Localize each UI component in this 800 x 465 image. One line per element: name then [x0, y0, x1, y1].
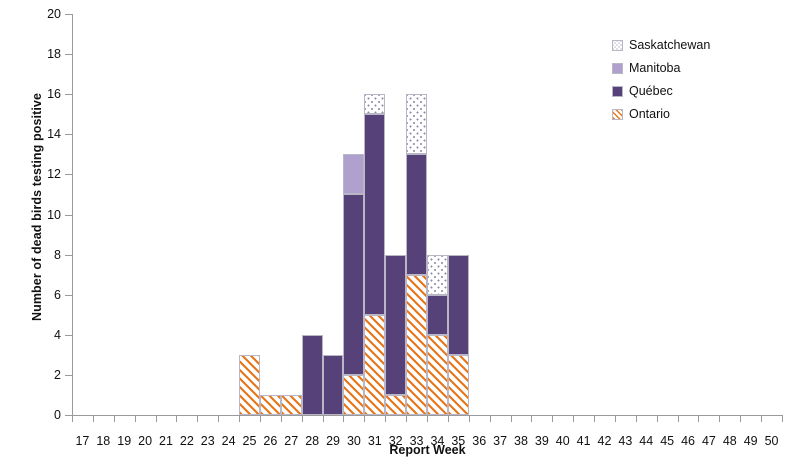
legend-item[interactable]: Ontario [612, 103, 798, 126]
bar-segment-ontario[interactable] [385, 395, 406, 415]
x-tick [469, 415, 470, 422]
y-tick-label: 0 [54, 409, 61, 422]
bar-chart: Number of dead birds testing positive 02… [0, 0, 800, 465]
bar-segment-qubec[interactable] [427, 295, 448, 335]
bar-stack[interactable] [281, 395, 302, 415]
bar-segment-qubec[interactable] [364, 114, 385, 315]
legend-label: Saskatchewan [629, 39, 710, 52]
legend-item[interactable]: Québec [612, 80, 798, 103]
legend-swatch-icon [612, 86, 623, 97]
bar-stack[interactable] [364, 94, 385, 415]
y-tick-label: 6 [54, 288, 61, 301]
x-tick [281, 415, 282, 422]
x-tick [364, 415, 365, 422]
bar-segment-ontario[interactable] [343, 375, 364, 415]
x-axis-title: Report Week [72, 443, 783, 457]
bar-segment-qubec[interactable] [302, 335, 323, 415]
bar-stack[interactable] [302, 335, 323, 415]
bar-segment-saskatchewan[interactable] [427, 255, 448, 295]
bar-stack[interactable] [448, 255, 469, 415]
x-tick [239, 415, 240, 422]
bar-segment-manitoba[interactable] [343, 154, 364, 194]
bar-segment-saskatchewan[interactable] [364, 94, 385, 114]
x-tick [761, 415, 762, 422]
legend-swatch-icon [612, 40, 623, 51]
x-tick [552, 415, 553, 422]
bar-stack[interactable] [385, 255, 406, 415]
y-tick [65, 174, 72, 175]
y-tick [65, 14, 72, 15]
y-axis-title: Number of dead birds testing positive [30, 22, 44, 392]
y-tick-label: 10 [47, 208, 61, 221]
x-tick [302, 415, 303, 422]
bar-segment-ontario[interactable] [448, 355, 469, 415]
bar-stack[interactable] [323, 355, 344, 415]
x-tick [176, 415, 177, 422]
x-tick [406, 415, 407, 422]
x-tick [719, 415, 720, 422]
x-tick [260, 415, 261, 422]
x-tick [678, 415, 679, 422]
x-tick [197, 415, 198, 422]
x-tick [72, 415, 73, 422]
y-tick-label: 20 [47, 8, 61, 21]
bar-stack[interactable] [427, 255, 448, 415]
bar-segment-ontario[interactable] [239, 355, 260, 415]
bar-segment-saskatchewan[interactable] [406, 94, 427, 154]
chart-legend: SaskatchewanManitobaQuébecOntario [612, 34, 798, 126]
legend-swatch-icon [612, 109, 623, 120]
bar-segment-ontario[interactable] [427, 335, 448, 415]
x-tick [511, 415, 512, 422]
y-tick-label: 18 [47, 48, 61, 61]
x-tick [218, 415, 219, 422]
x-tick [135, 415, 136, 422]
x-tick [615, 415, 616, 422]
legend-item[interactable]: Saskatchewan [612, 34, 798, 57]
x-tick [448, 415, 449, 422]
bar-stack[interactable] [239, 355, 260, 415]
x-tick [782, 415, 783, 422]
x-tick [636, 415, 637, 422]
bar-segment-qubec[interactable] [343, 194, 364, 374]
y-tick [65, 215, 72, 216]
x-tick [156, 415, 157, 422]
y-tick-label: 16 [47, 88, 61, 101]
y-tick [65, 415, 72, 416]
y-tick [65, 375, 72, 376]
x-tick [343, 415, 344, 422]
legend-label: Québec [629, 85, 673, 98]
legend-label: Ontario [629, 108, 670, 121]
bar-segment-ontario[interactable] [260, 395, 281, 415]
bar-segment-ontario[interactable] [406, 275, 427, 415]
legend-label: Manitoba [629, 62, 680, 75]
legend-swatch-icon [612, 63, 623, 74]
y-tick-label: 4 [54, 329, 61, 342]
bar-segment-ontario[interactable] [281, 395, 302, 415]
x-tick [657, 415, 658, 422]
x-tick [114, 415, 115, 422]
bar-segment-qubec[interactable] [385, 255, 406, 395]
y-tick-label: 8 [54, 248, 61, 261]
bar-segment-qubec[interactable] [406, 154, 427, 274]
y-tick-label: 14 [47, 128, 61, 141]
bar-stack[interactable] [260, 395, 281, 415]
bar-segment-qubec[interactable] [323, 355, 344, 415]
y-tick [65, 54, 72, 55]
x-tick [740, 415, 741, 422]
x-tick [490, 415, 491, 422]
y-tick-label: 12 [47, 168, 61, 181]
y-tick [65, 134, 72, 135]
bar-stack[interactable] [406, 94, 427, 415]
bar-stack[interactable] [343, 154, 364, 415]
x-tick [93, 415, 94, 422]
x-tick [323, 415, 324, 422]
y-tick [65, 295, 72, 296]
legend-item[interactable]: Manitoba [612, 57, 798, 80]
y-tick-label: 2 [54, 369, 61, 382]
bar-segment-qubec[interactable] [448, 255, 469, 355]
y-tick [65, 255, 72, 256]
x-tick [385, 415, 386, 422]
x-tick [594, 415, 595, 422]
x-tick [427, 415, 428, 422]
y-tick [65, 335, 72, 336]
x-tick [573, 415, 574, 422]
bar-segment-ontario[interactable] [364, 315, 385, 415]
x-tick [531, 415, 532, 422]
y-tick [65, 94, 72, 95]
x-tick [698, 415, 699, 422]
